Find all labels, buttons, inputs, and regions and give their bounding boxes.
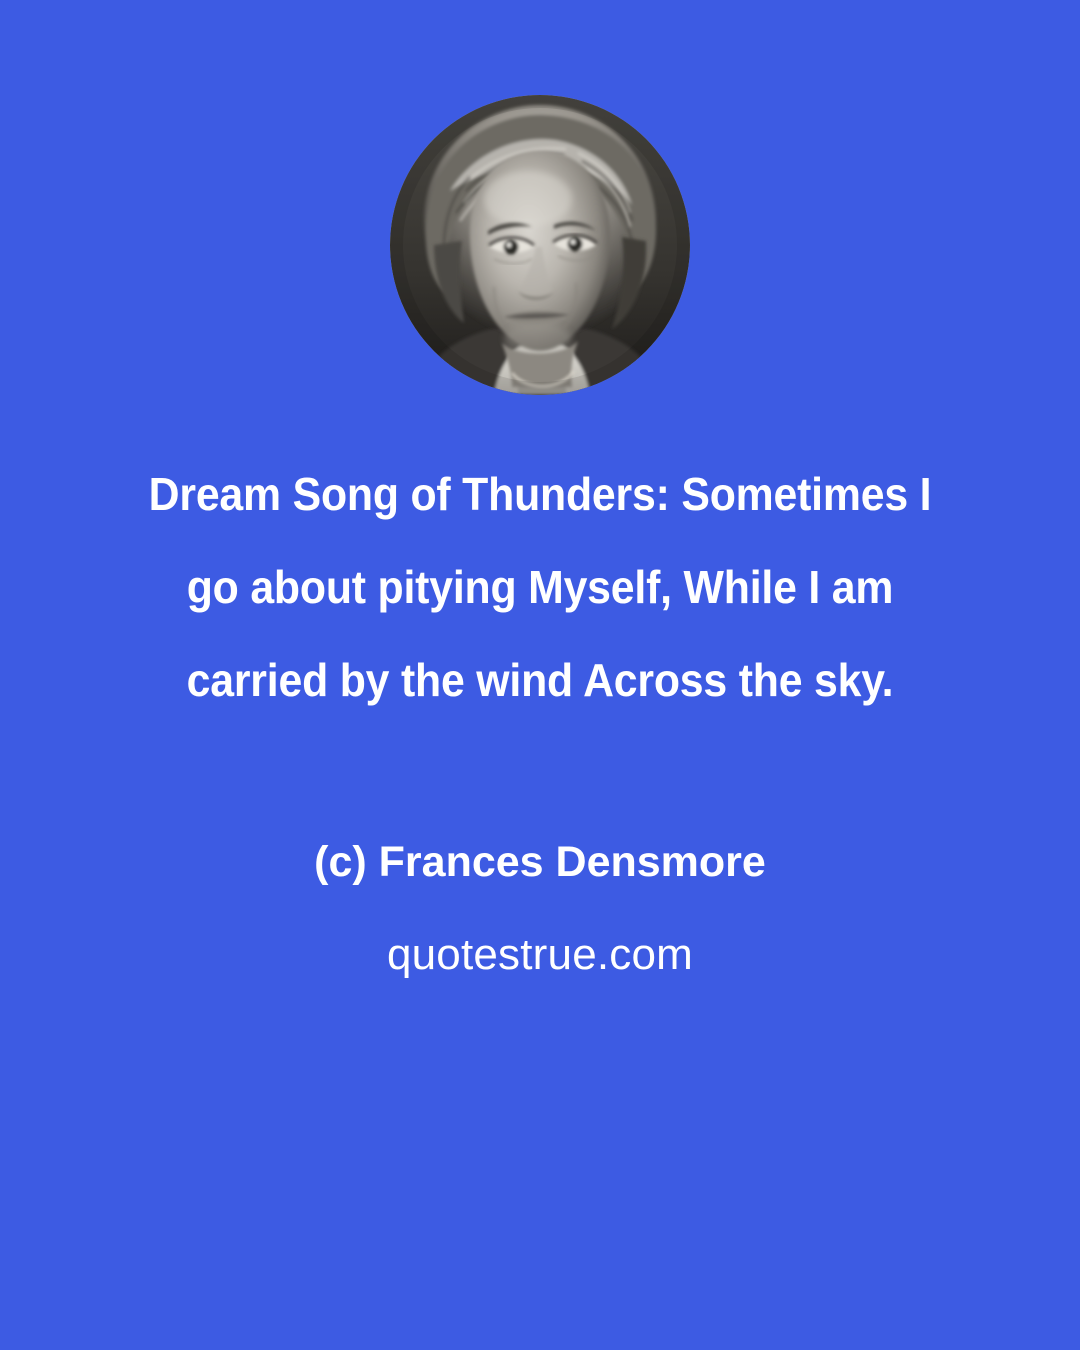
author-portrait bbox=[390, 95, 690, 395]
author-portrait-photo bbox=[390, 95, 690, 395]
site-watermark: quotestrue.com bbox=[90, 928, 990, 982]
quote-card: Dream Song of Thunders: Sometimes I go a… bbox=[0, 0, 1080, 1350]
quote-body: Dream Song of Thunders: Sometimes I go a… bbox=[122, 448, 959, 727]
quote-author: (c) Frances Densmore bbox=[90, 836, 990, 888]
